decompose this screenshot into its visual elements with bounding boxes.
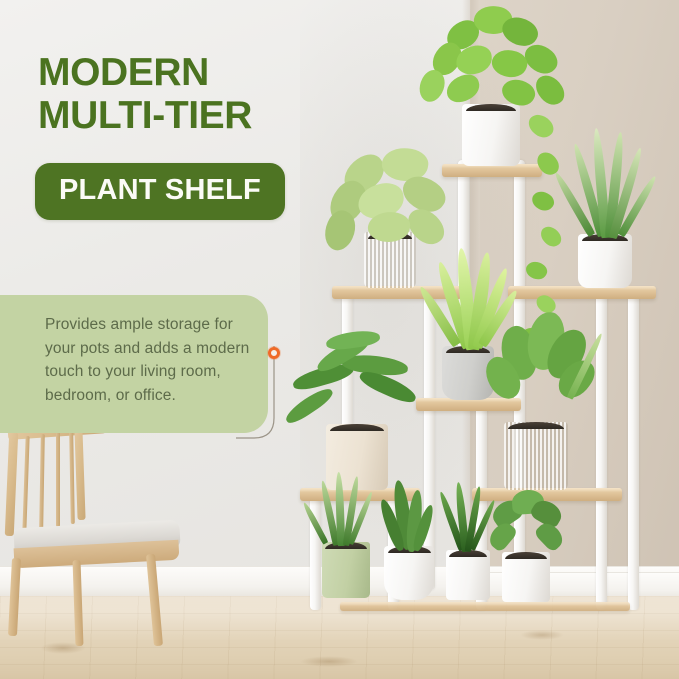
chair-leg — [146, 554, 163, 646]
chair-spindle — [22, 436, 29, 532]
chair-leg — [8, 558, 21, 636]
pot-soil — [505, 552, 546, 559]
white-round-pot — [462, 104, 520, 166]
headline-line-2: MULTI-TIER — [38, 95, 338, 138]
white-tapered-pot — [578, 234, 632, 288]
chair-spindle — [69, 431, 75, 524]
chair-back-post-right — [74, 428, 85, 520]
white-cylinder-pot-2 — [502, 552, 550, 602]
pot-soil — [466, 104, 516, 111]
callout-connector-line — [236, 340, 292, 450]
white-egg-pot — [384, 546, 434, 600]
chair-spindle — [56, 432, 60, 527]
white-cylinder-pot — [446, 550, 490, 600]
sage-green-pot — [322, 542, 370, 598]
callout-marker-dot — [268, 347, 280, 359]
product-marketing-image: MODERN MULTI-TIER PLANT SHELF Provides a… — [0, 0, 679, 679]
multi-tier-plant-shelf — [296, 150, 656, 620]
shelf-post — [424, 290, 435, 590]
headline-line-1: MODERN — [38, 51, 209, 94]
wooden-chair — [2, 418, 202, 648]
page-title: MODERN MULTI-TIER — [38, 52, 338, 138]
pot-soil — [508, 422, 563, 429]
shelf-board-tier3 — [508, 286, 656, 299]
shelf-post — [628, 290, 639, 610]
pot-soil — [330, 424, 383, 431]
callout-description: Provides ample storage for your pots and… — [45, 313, 267, 407]
cream-fluted-pot — [504, 422, 568, 490]
chair-back-post-left — [5, 432, 19, 536]
chair-leg — [73, 560, 84, 646]
shelf-base-rail — [340, 602, 630, 611]
product-name-badge: PLANT SHELF — [35, 163, 285, 220]
chair-spindle — [39, 434, 45, 530]
